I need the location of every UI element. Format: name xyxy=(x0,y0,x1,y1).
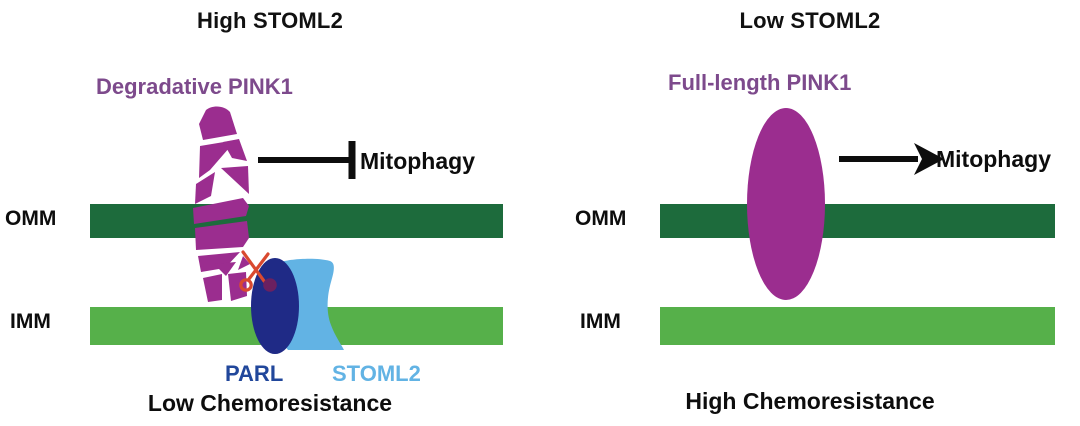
caption-left: Low Chemoresistance xyxy=(0,390,540,417)
degradative-pink1-shape xyxy=(193,106,250,302)
fulllength-pink1-shape xyxy=(747,108,825,300)
stoml2-label: STOML2 xyxy=(332,361,421,387)
panel-high-stoml2: High STOML2 Degradative PINK1 OMM IMM xyxy=(0,0,540,426)
activation-arrow xyxy=(839,143,944,175)
parl-label: PARL xyxy=(225,361,283,387)
inhibition-arrow xyxy=(258,141,352,179)
panel-low-stoml2: Low STOML2 Full-length PINK1 OMM IMM Mit… xyxy=(540,0,1080,426)
figure-canvas: High STOML2 Degradative PINK1 OMM IMM xyxy=(0,0,1080,426)
caption-right: High Chemoresistance xyxy=(540,388,1080,415)
mitophagy-label-right: Mitophagy xyxy=(936,146,1051,173)
mitophagy-label-left: Mitophagy xyxy=(360,148,475,175)
right-panel-graphics xyxy=(540,0,1080,426)
